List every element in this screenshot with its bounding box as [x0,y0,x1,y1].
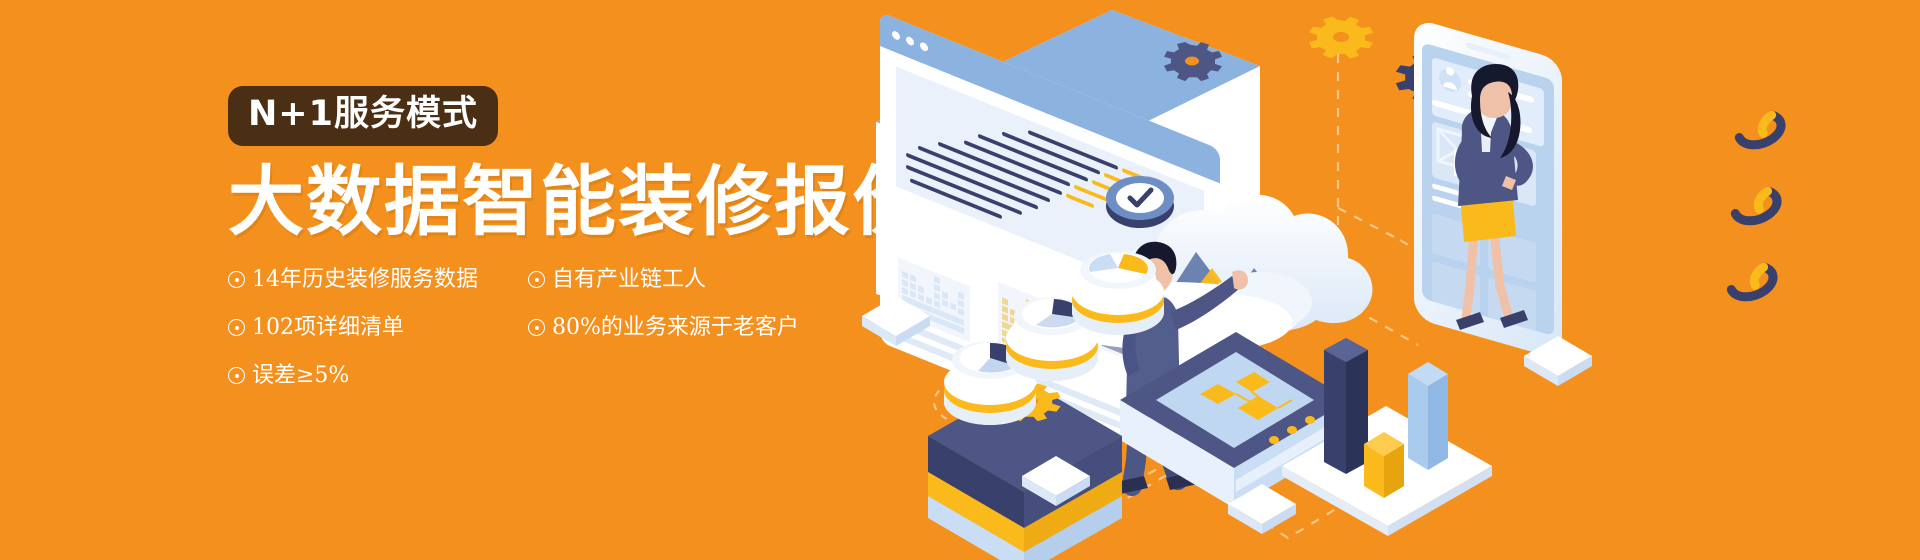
target-dot-icon [228,319,245,336]
list-item-label: 80%的业务来源于老客户 [552,317,799,339]
list-item-label: 14年历史装修服务数据 [252,269,478,291]
target-dot-icon [528,271,545,288]
list-item: 102项详细清单 [228,317,528,339]
bullet-column-right: 自有产业链工人 80%的业务来源于老客户 [528,269,828,413]
bullet-column-left: 14年历史装修服务数据 102项详细清单 误差≥5% [228,269,528,413]
ring-arcs [1728,113,1785,302]
target-dot-icon [228,271,245,288]
list-item: 自有产业链工人 [528,269,828,291]
list-item: 误差≥5% [228,365,528,387]
promo-banner: N+1服务模式 大数据智能装修报价 14年历史装修服务数据 102项详细清单 误… [0,0,1920,560]
isometric-big-data-illustration [840,0,1920,560]
bar-light-blue [1408,362,1448,470]
gear-yellow [1309,17,1373,59]
target-dot-icon [528,319,545,336]
feature-bullet-list: 14年历史装修服务数据 102项详细清单 误差≥5% 自有产业链工人 [228,269,848,413]
target-dot-icon [228,367,245,384]
list-item-label: 自有产业链工人 [552,269,706,291]
bar-yellow [1364,432,1404,498]
service-model-badge: N+1服务模式 [228,86,498,146]
list-item-label: 102项详细清单 [252,317,404,339]
list-item: 80%的业务来源于老客户 [528,317,828,339]
list-item: 14年历史装修服务数据 [228,269,528,291]
list-item-label: 误差≥5% [252,365,349,387]
bar-navy [1324,338,1368,474]
